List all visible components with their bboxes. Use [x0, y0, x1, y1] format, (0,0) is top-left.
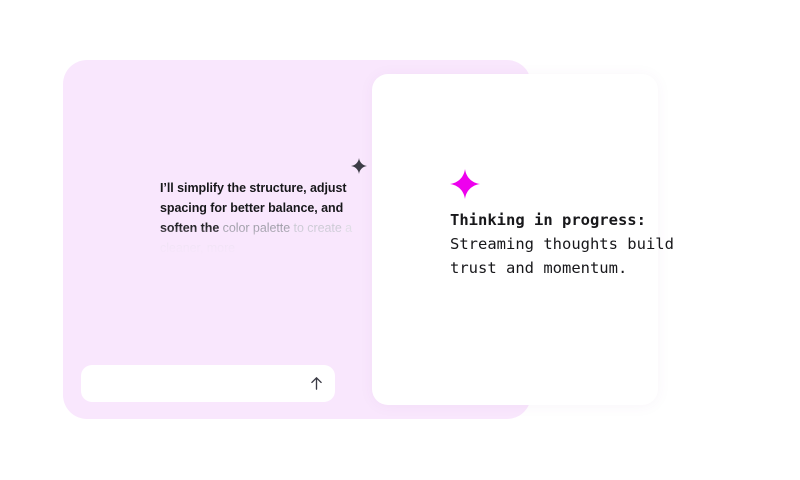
- thought-text-block: Thinking in progress: Streaming thoughts…: [450, 208, 750, 280]
- thought-heading: Thinking in progress:: [450, 208, 750, 232]
- message-input[interactable]: [95, 364, 299, 403]
- screenshot-stage: I’ll simplify the structure, adjust spac…: [0, 0, 800, 480]
- thought-line-2: trust and momentum.: [450, 256, 750, 280]
- streaming-assistant-text: I’ll simplify the structure, adjust spac…: [160, 178, 370, 258]
- send-button[interactable]: [299, 367, 333, 401]
- thought-card: Thinking in progress: Streaming thoughts…: [372, 74, 658, 405]
- sparkle-icon: [450, 169, 480, 199]
- arrow-up-icon: [308, 375, 325, 392]
- stream-segment-dim: color palette: [223, 221, 294, 235]
- sparkle-icon: [351, 158, 367, 174]
- thought-line-1: Streaming thoughts build: [450, 232, 750, 256]
- stream-segment-dimmer: to create: [294, 221, 346, 235]
- message-composer[interactable]: [81, 365, 335, 402]
